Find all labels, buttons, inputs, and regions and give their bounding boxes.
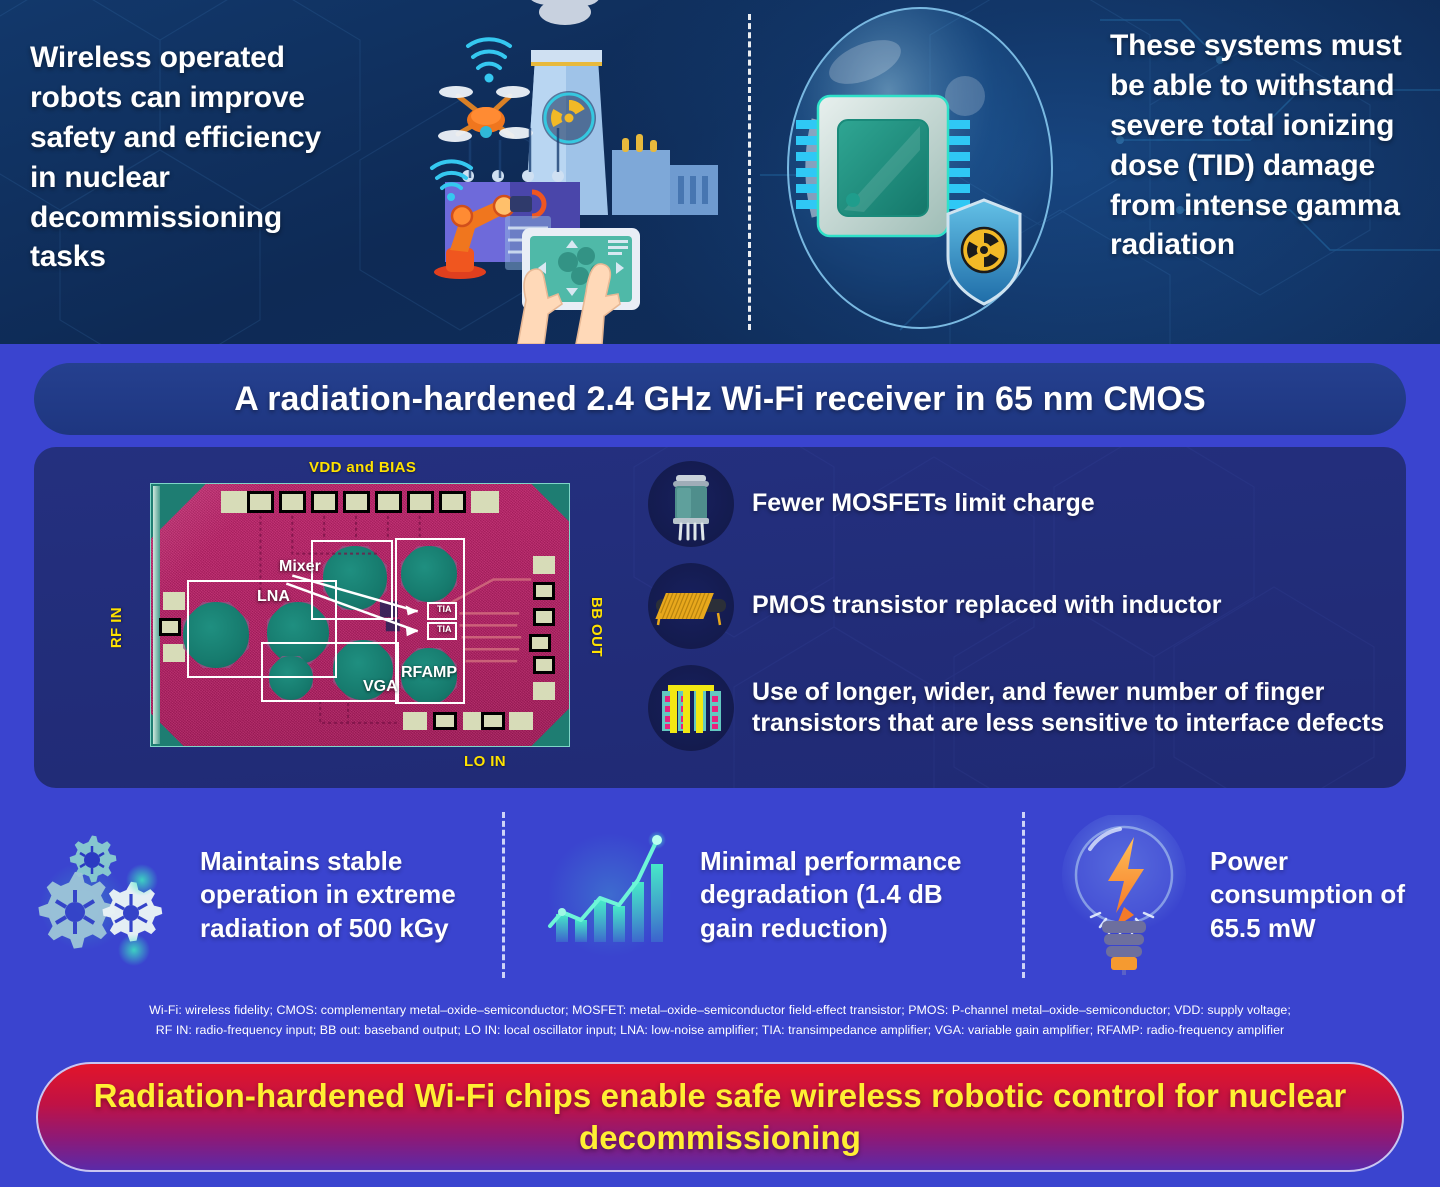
drone-icon [438, 86, 533, 142]
protected-chip-illustration [760, 0, 1120, 344]
lightbulb-icon [1050, 815, 1210, 975]
finger-transistor-icon [648, 665, 734, 751]
benefits-row: Maintains stable operation in extreme ra… [0, 800, 1440, 990]
die-block-label-vga: VGA [363, 678, 398, 696]
footnote-line-2: RF IN: radio-frequency input; BB out: ba… [0, 1020, 1440, 1040]
top-right-statement: These systems must be able to withstand … [1110, 26, 1420, 265]
top-section-divider [748, 14, 751, 330]
benefit-power: Power consumption of 65.5 mW [1050, 800, 1440, 990]
benefit-radiation-tolerance: Maintains stable operation in extreme ra… [30, 800, 480, 990]
benefit-performance: Minimal performance degradation (1.4 dB … [530, 800, 1030, 990]
rising-bar-chart-icon [530, 820, 700, 970]
benefit-label: Power consumption of 65.5 mW [1210, 845, 1430, 944]
abbreviations-footnote: Wi-Fi: wireless fidelity; CMOS: compleme… [0, 996, 1440, 1050]
conclusion-text: Radiation-hardened Wi-Fi chips enable sa… [38, 1075, 1402, 1159]
list-item-label: PMOS transistor replaced with inductor [752, 590, 1222, 622]
top-banner: Wireless operated robots can improve saf… [0, 0, 1440, 344]
list-item: Fewer MOSFETs limit charge [648, 461, 1398, 547]
conclusion-banner: Radiation-hardened Wi-Fi chips enable sa… [36, 1062, 1404, 1172]
list-item-label: Fewer MOSFETs limit charge [752, 488, 1095, 520]
mixer-pointer-lines [151, 484, 569, 747]
nuclear-plant-robot-illustration [350, 0, 750, 344]
die-block-label-tia-2: TIA [437, 624, 452, 634]
die-micrograph: Mixer LNA VGA RFAMP TIA TIA [150, 483, 570, 747]
inductor-coil-icon [648, 563, 734, 649]
die-block-label-tia-1: TIA [437, 604, 452, 614]
list-item: Use of longer, wider, and fewer number o… [648, 665, 1398, 751]
die-label-rf-in: RF IN [108, 607, 125, 648]
page-title: A radiation-hardened 2.4 GHz Wi-Fi recei… [234, 380, 1205, 419]
main-title-banner: A radiation-hardened 2.4 GHz Wi-Fi recei… [34, 363, 1406, 435]
die-block-label-lna: LNA [257, 588, 290, 606]
list-item-label: Use of longer, wider, and fewer number o… [752, 677, 1398, 740]
chip-design-panel: VDD and BIAS LO IN RF IN BB OUT [34, 447, 1406, 788]
die-block-label-rfamp: RFAMP [401, 664, 457, 682]
top-left-statement: Wireless operated robots can improve saf… [30, 38, 350, 277]
chip-die-photo: VDD and BIAS LO IN RF IN BB OUT [114, 457, 614, 777]
die-label-lo-in: LO IN [464, 753, 506, 770]
benefit-divider-2 [1022, 812, 1025, 978]
footnote-line-1: Wi-Fi: wireless fidelity; CMOS: compleme… [0, 1000, 1440, 1020]
design-techniques-list: Fewer MOSFETs limit charge [648, 461, 1398, 767]
benefit-label: Maintains stable operation in extreme ra… [200, 845, 466, 944]
gears-icon [30, 820, 200, 970]
mosfet-package-icon [648, 461, 734, 547]
wifi-signal-icon [468, 39, 510, 68]
list-item: PMOS transistor replaced with inductor [648, 563, 1398, 649]
benefit-divider-1 [502, 812, 505, 978]
die-label-vdd-bias: VDD and BIAS [309, 459, 416, 476]
die-label-bb-out: BB OUT [588, 597, 605, 657]
die-block-label-mixer: Mixer [279, 558, 321, 576]
benefit-label: Minimal performance degradation (1.4 dB … [700, 845, 990, 944]
